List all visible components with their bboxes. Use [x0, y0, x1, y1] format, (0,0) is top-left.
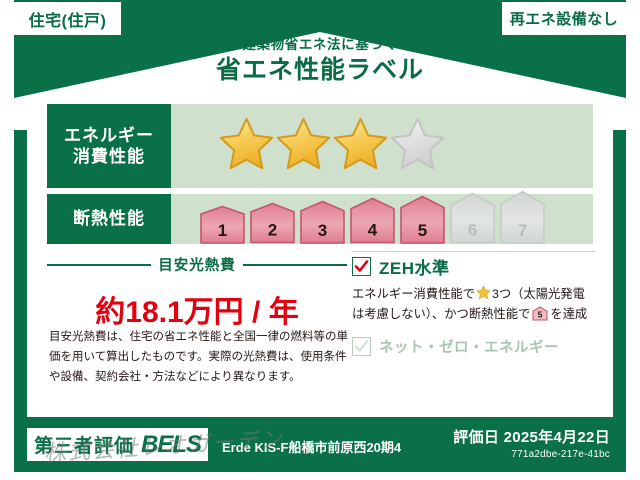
- row-energy-label-line1: エネルギー: [64, 125, 154, 146]
- svg-text:5: 5: [418, 221, 427, 240]
- zeh-title-row: ZEH水準: [352, 254, 597, 279]
- star-icon: [333, 116, 388, 171]
- footer-bar: 第三者評価 BELS Erde KIS-F船橋市前原西20期4 評価日 2025…: [14, 417, 626, 472]
- insulation-level-2: 2: [249, 202, 296, 249]
- bels-logo: 第三者評価 BELS: [27, 428, 208, 461]
- zeh-description: エネルギー消費性能で3つ（太陽光発電は考慮しない）、かつ断熱性能で5を達成: [352, 285, 597, 325]
- star-icon: [390, 116, 445, 171]
- svg-text:5: 5: [538, 310, 543, 320]
- badge-building-type: 住宅(住戸): [14, 2, 121, 35]
- star-icon: [219, 116, 274, 171]
- zeh-desc-part-a: エネルギー消費性能で: [352, 287, 475, 301]
- title-main: 省エネ性能ラベル: [0, 58, 640, 83]
- svg-text:3: 3: [318, 221, 327, 240]
- star-empty: [390, 116, 445, 176]
- net-zero-checkbox: [352, 337, 371, 356]
- row-energy-label: エネルギー 消費性能: [47, 104, 171, 188]
- insulation-level-1: 1: [199, 205, 246, 249]
- star-rating: [219, 116, 445, 176]
- svg-text:7: 7: [518, 221, 527, 240]
- evaluation-date-value: 2025年4月22日: [504, 429, 610, 446]
- insulation-badge-icon: 5: [532, 306, 548, 321]
- house-rating-scale: 1234567: [199, 190, 546, 249]
- star-filled: [333, 116, 388, 176]
- check-icon-disabled: [354, 339, 369, 354]
- row-energy-performance: エネルギー 消費性能: [47, 104, 593, 188]
- house-icon: 5: [399, 195, 446, 244]
- insulation-level-3: 3: [299, 200, 346, 249]
- svg-text:6: 6: [468, 221, 477, 240]
- row-energy-body: [171, 104, 593, 188]
- insulation-level-5: 5: [399, 195, 446, 249]
- star-filled: [219, 116, 274, 176]
- star-icon: [276, 116, 331, 171]
- zeh-checkbox: [352, 257, 371, 276]
- house-icon: 7: [499, 190, 546, 244]
- house-icon: 1: [199, 205, 246, 244]
- net-zero-row: ネット・ゼロ・エネルギー: [352, 336, 597, 357]
- estimated-cost-heading-text: 目安光熱費: [158, 254, 236, 275]
- house-icon: 6: [449, 192, 496, 244]
- row-insulation-performance: 断熱性能 1234567: [47, 194, 593, 244]
- heading-rule-right: [243, 264, 347, 266]
- house-icon: 4: [349, 197, 396, 244]
- net-zero-label: ネット・ゼロ・エネルギー: [379, 336, 559, 357]
- insulation-level-6: 6: [449, 192, 496, 249]
- badge-renewable-equipment: 再エネ設備なし: [502, 2, 626, 35]
- content-card: エネルギー 消費性能 断熱性能 1234567 目安光熱費 約18.1万円 /: [27, 99, 613, 417]
- zeh-title: ZEH水準: [379, 254, 450, 279]
- svg-text:4: 4: [368, 221, 378, 240]
- evaluation-date: 評価日 2025年4月22日: [453, 426, 610, 447]
- heading-rule-left: [47, 264, 151, 266]
- energy-performance-label: 住宅(住戸) 再エネ設備なし 建築物省エネ法に基づく 省エネ性能ラベル エネルギ…: [0, 0, 640, 480]
- house-icon: 3: [299, 200, 346, 244]
- evaluation-id: 771a2dbe-217e-41bc: [453, 449, 610, 460]
- project-name: Erde KIS-F船橋市前原西20期4: [222, 437, 401, 456]
- row-insulation-label: 断熱性能: [47, 194, 171, 244]
- row-energy-label-line2: 消費性能: [73, 146, 145, 167]
- bels-en-text: BELS: [141, 431, 201, 459]
- estimated-cost-note: 目安光熱費は、住宅の省エネ性能と全国一律の燃料等の単価を用いて算出したものです。…: [49, 327, 349, 387]
- estimated-cost-block: 目安光熱費 約18.1万円 / 年: [47, 254, 347, 331]
- check-icon: [354, 259, 369, 274]
- star-icon: [476, 285, 491, 300]
- title-subtitle: 建築物省エネ法に基づく: [0, 38, 640, 52]
- svg-text:2: 2: [268, 221, 277, 240]
- bels-jp-text: 第三者評価: [34, 431, 134, 458]
- zeh-block: ZEH水準 エネルギー消費性能で3つ（太陽光発電は考慮しない）、かつ断熱性能で5…: [352, 254, 597, 357]
- zeh-desc-part-c: を達成: [550, 307, 587, 321]
- title-block: 建築物省エネ法に基づく 省エネ性能ラベル: [0, 38, 640, 83]
- row-insulation-label-text: 断熱性能: [73, 208, 145, 229]
- star-filled: [276, 116, 331, 176]
- insulation-level-7: 7: [499, 190, 546, 249]
- row-insulation-body: 1234567: [171, 194, 593, 244]
- evaluation-info: 評価日 2025年4月22日 771a2dbe-217e-41bc: [453, 426, 610, 460]
- zeh-divider: [352, 251, 595, 252]
- estimated-cost-value: 約18.1万円 / 年: [47, 287, 347, 331]
- svg-text:1: 1: [218, 221, 227, 240]
- insulation-level-4: 4: [349, 197, 396, 249]
- house-icon: 2: [249, 202, 296, 244]
- evaluation-date-label: 評価日: [453, 429, 499, 446]
- estimated-cost-heading: 目安光熱費: [47, 254, 347, 275]
